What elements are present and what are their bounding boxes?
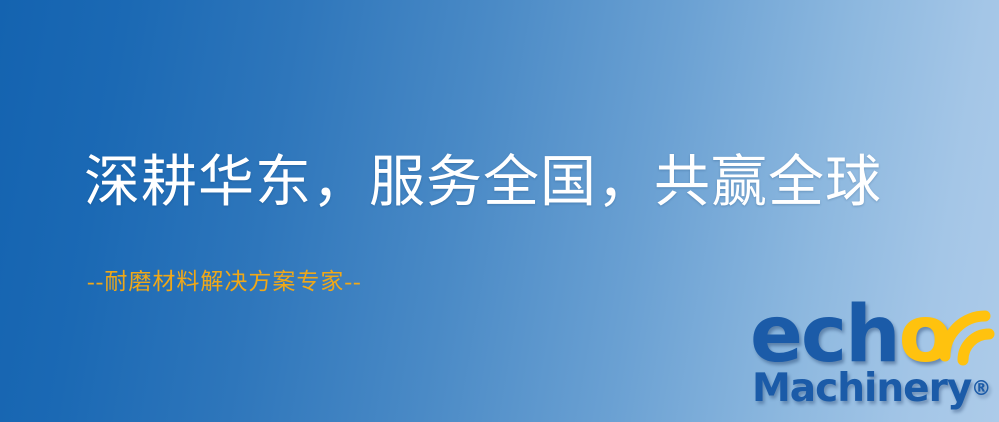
logo-tagline-text: Machinery (752, 366, 971, 411)
banner-subtitle: --耐磨材料解决方案专家-- (87, 270, 362, 293)
logo-wordmark: echo Machinery® (748, 296, 999, 422)
registered-trademark-icon: ® (971, 376, 991, 400)
signal-waves-icon (923, 294, 997, 368)
banner-headline: 深耕华东，服务全国，共赢全球 (84, 155, 882, 211)
logo-tagline-row: Machinery® (752, 369, 991, 408)
company-logo[interactable]: echo Machinery® (748, 296, 999, 422)
logo-brand-text: echo (750, 296, 950, 374)
hero-banner: 深耕华东，服务全国，共赢全球 --耐磨材料解决方案专家-- echo Machi… (0, 0, 999, 422)
